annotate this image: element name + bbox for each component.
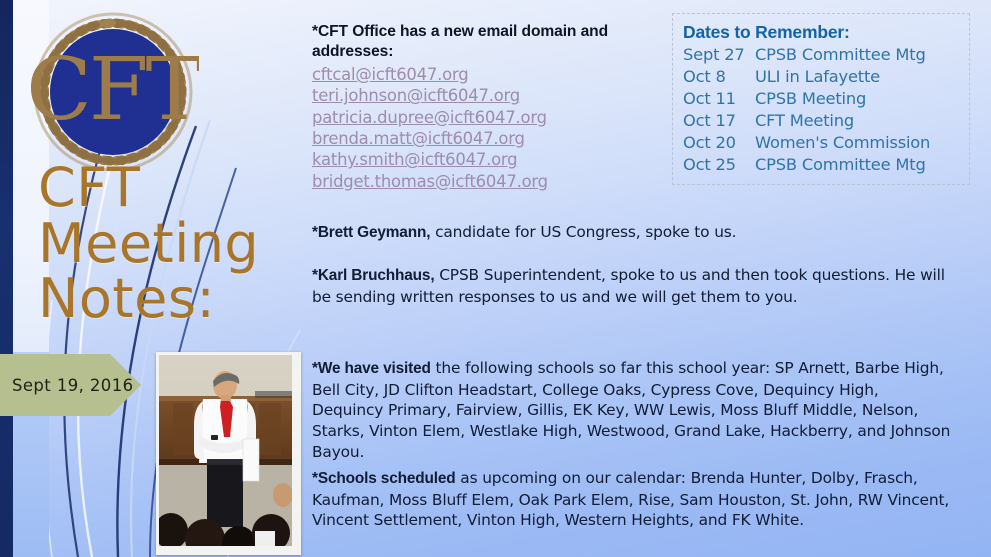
date-badge: Sept 19, 2016 [0,354,141,416]
date-entry-event: CPSB Committee Mtg [755,154,969,176]
paragraph-scheduled-lead: *Schools scheduled [312,470,456,487]
date-entry: Oct 17 CFT Meeting [683,110,969,132]
date-entry: Oct 25 CPSB Committee Mtg [683,154,969,176]
title-line-1: CFT [38,160,308,216]
title-line-3: Notes: [38,271,308,327]
date-entry-event: CFT Meeting [755,110,969,132]
email-address-list: cftcal@icft6047.org teri.johnson@icft604… [312,64,660,192]
date-entry-event: Women's Commission [755,132,969,154]
date-entry-date: Oct 8 [683,66,755,88]
paragraph-brett-geymann: *Brett Geymann, candidate for US Congres… [312,222,952,244]
date-badge-label: Sept 19, 2016 [0,376,134,395]
email-link[interactable]: kathy.smith@icft6047.org [312,149,660,170]
email-link[interactable]: patricia.dupree@icft6047.org [312,107,660,128]
date-entry-date: Oct 17 [683,110,755,132]
paragraph-schools-visited: *We have visited the following schools s… [312,358,952,462]
email-link[interactable]: brenda.matt@icft6047.org [312,128,660,149]
left-navy-bar [0,0,13,557]
paragraph-visited-lead: *We have visited [312,360,431,377]
logo-letters: CFT [27,40,199,140]
dates-box-title: Dates to Remember: [683,21,969,43]
email-link[interactable]: cftcal@icft6047.org [312,64,660,85]
paragraph-brett-lead: *Brett Geymann, [312,224,430,241]
email-block-heading: *CFT Office has a new email domain and a… [312,22,660,63]
paragraph-karl-bruchhaus: *Karl Bruchhaus, CPSB Superintendent, sp… [312,265,952,307]
date-entry-date: Oct 20 [683,132,755,154]
date-entry-event: ULI in Lafayette [755,66,969,88]
date-entry-date: Oct 25 [683,154,755,176]
meeting-photo [156,352,301,555]
date-entry: Sept 27 CPSB Committee Mtg [683,44,969,66]
cft-logo-icon: CFT [27,6,199,178]
date-entry-event: CPSB Committee Mtg [755,44,969,66]
date-entry-date: Sept 27 [683,44,755,66]
date-entry-date: Oct 11 [683,88,755,110]
cft-logo: CFT [27,6,199,178]
date-entry: Oct 8 ULI in Lafayette [683,66,969,88]
presentation-slide: CFT CFT Meeting Notes: Sept 19, 2016 [0,0,991,557]
date-entry: Oct 11 CPSB Meeting [683,88,969,110]
email-link[interactable]: teri.johnson@icft6047.org [312,85,660,106]
title-line-2: Meeting [38,216,308,272]
email-link[interactable]: bridget.thomas@icft6047.org [312,171,660,192]
date-entry: Oct 20 Women's Commission [683,132,969,154]
dates-to-remember-box: Dates to Remember: Sept 27 CPSB Committe… [672,13,970,185]
date-entry-event: CPSB Meeting [755,88,969,110]
meeting-photo-image [159,355,292,546]
paragraph-karl-lead: *Karl Bruchhaus, [312,267,434,284]
page-title: CFT Meeting Notes: [38,160,308,327]
paragraph-schools-scheduled: *Schools scheduled as upcoming on our ca… [312,468,952,531]
paragraph-brett-text: candidate for US Congress, spoke to us. [430,223,736,241]
